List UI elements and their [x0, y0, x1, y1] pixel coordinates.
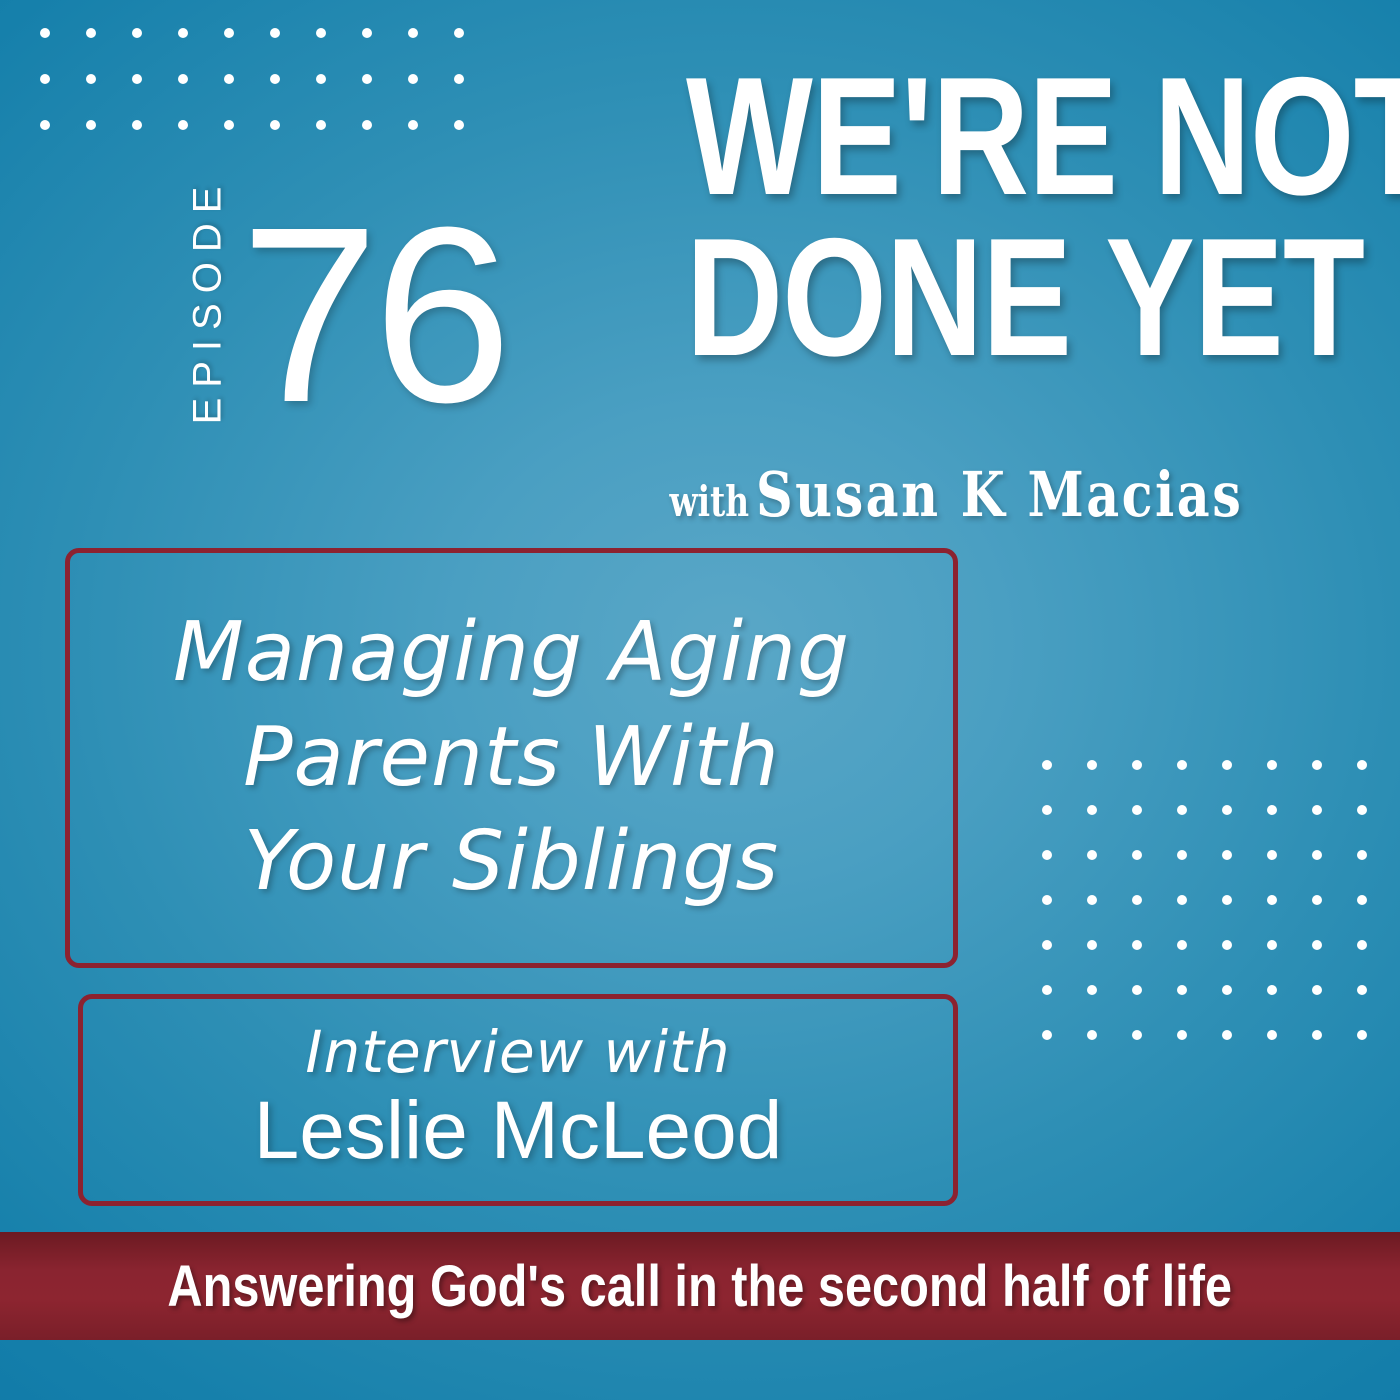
- decor-dot: [454, 120, 464, 130]
- episode-label: EPISODE: [186, 161, 231, 441]
- episode-block: EPISODE 76: [140, 160, 540, 460]
- decor-dot: [1177, 985, 1187, 995]
- decor-dot: [1087, 760, 1097, 770]
- decor-dot: [1267, 805, 1277, 815]
- decor-dot: [1087, 805, 1097, 815]
- decor-dot: [1132, 850, 1142, 860]
- decor-dot: [1132, 1030, 1142, 1040]
- decor-dot: [1312, 805, 1322, 815]
- decor-dot: [86, 28, 96, 38]
- decor-dot: [86, 74, 96, 84]
- decor-dot: [1222, 1030, 1232, 1040]
- decor-dot: [1177, 805, 1187, 815]
- decor-dot: [1222, 805, 1232, 815]
- decor-dot: [1042, 850, 1052, 860]
- decor-dot: [1267, 850, 1277, 860]
- decor-dot: [1087, 985, 1097, 995]
- decor-dot: [1312, 1030, 1322, 1040]
- decor-dot: [1267, 940, 1277, 950]
- decor-dot: [1222, 850, 1232, 860]
- decor-dot: [270, 74, 280, 84]
- decor-dot: [1267, 1030, 1277, 1040]
- decor-dot: [132, 74, 142, 84]
- show-title: WE'RE NOT DONE YET: [686, 56, 1350, 379]
- episode-title-line-2: Parents With: [243, 706, 780, 811]
- decor-dot: [1267, 985, 1277, 995]
- decor-dot: [1312, 850, 1322, 860]
- interview-label: Interview with: [305, 1022, 730, 1083]
- decor-dot: [224, 28, 234, 38]
- decor-dot: [408, 74, 418, 84]
- show-title-line-2: DONE YET: [686, 217, 1350, 378]
- decor-dot: [224, 74, 234, 84]
- decor-dot: [132, 28, 142, 38]
- host-prefix: with: [670, 477, 750, 526]
- dot-grid-right: [1042, 760, 1400, 1075]
- decor-dot: [1357, 850, 1367, 860]
- decor-dot: [454, 28, 464, 38]
- decor-dot: [1312, 985, 1322, 995]
- decor-dot: [408, 28, 418, 38]
- decor-dot: [1042, 895, 1052, 905]
- decor-dot: [1177, 1030, 1187, 1040]
- decor-dot: [40, 28, 50, 38]
- decor-dot: [1132, 760, 1142, 770]
- decor-dot: [1222, 940, 1232, 950]
- decor-dot: [1357, 940, 1367, 950]
- decor-dot: [224, 120, 234, 130]
- decor-dot: [454, 74, 464, 84]
- decor-dot: [40, 74, 50, 84]
- dot-grid-top-left: [40, 28, 500, 166]
- decor-dot: [1132, 985, 1142, 995]
- decor-dot: [1357, 760, 1367, 770]
- episode-number: 76: [240, 190, 506, 440]
- decor-dot: [270, 28, 280, 38]
- decor-dot: [1177, 940, 1187, 950]
- decor-dot: [1042, 760, 1052, 770]
- episode-title-line-1: Managing Aging: [173, 601, 850, 706]
- episode-title-panel: Managing Aging Parents With Your Sibling…: [65, 548, 958, 968]
- decor-dot: [1042, 985, 1052, 995]
- decor-dot: [1042, 940, 1052, 950]
- decor-dot: [1312, 940, 1322, 950]
- decor-dot: [1357, 895, 1367, 905]
- decor-dot: [1357, 985, 1367, 995]
- guest-panel: Interview with Leslie McLeod: [78, 994, 958, 1206]
- decor-dot: [1177, 895, 1187, 905]
- decor-dot: [316, 120, 326, 130]
- decor-dot: [178, 120, 188, 130]
- decor-dot: [1132, 895, 1142, 905]
- decor-dot: [1222, 895, 1232, 905]
- decor-dot: [40, 120, 50, 130]
- decor-dot: [316, 74, 326, 84]
- decor-dot: [1357, 805, 1367, 815]
- decor-dot: [1132, 805, 1142, 815]
- decor-dot: [86, 120, 96, 130]
- decor-dot: [1042, 1030, 1052, 1040]
- decor-dot: [316, 28, 326, 38]
- show-title-line-1: WE'RE NOT: [686, 56, 1350, 217]
- decor-dot: [178, 28, 188, 38]
- decor-dot: [1087, 895, 1097, 905]
- decor-dot: [1312, 760, 1322, 770]
- decor-dot: [362, 120, 372, 130]
- decor-dot: [1042, 805, 1052, 815]
- decor-dot: [1087, 850, 1097, 860]
- decor-dot: [362, 74, 372, 84]
- decor-dot: [408, 120, 418, 130]
- episode-title-line-3: Your Siblings: [244, 810, 779, 915]
- decor-dot: [1132, 940, 1142, 950]
- tagline-banner: Answering God's call in the second half …: [0, 1232, 1400, 1340]
- decor-dot: [1177, 760, 1187, 770]
- guest-name: Leslie McLeod: [254, 1089, 783, 1173]
- decor-dot: [1177, 850, 1187, 860]
- decor-dot: [362, 28, 372, 38]
- decor-dot: [1267, 760, 1277, 770]
- decor-dot: [1087, 1030, 1097, 1040]
- decor-dot: [178, 74, 188, 84]
- decor-dot: [1267, 895, 1277, 905]
- decor-dot: [1087, 940, 1097, 950]
- decor-dot: [1222, 985, 1232, 995]
- host-name: Susan K Macias: [756, 458, 1243, 531]
- decor-dot: [1222, 760, 1232, 770]
- podcast-cover-art: EPISODE 76 WE'RE NOT DONE YET with Susan…: [0, 0, 1400, 1400]
- decor-dot: [1357, 1030, 1367, 1040]
- decor-dot: [1312, 895, 1322, 905]
- decor-dot: [132, 120, 142, 130]
- host-credit: with Susan K Macias: [480, 458, 1350, 531]
- decor-dot: [270, 120, 280, 130]
- tagline-text: Answering God's call in the second half …: [168, 1253, 1233, 1320]
